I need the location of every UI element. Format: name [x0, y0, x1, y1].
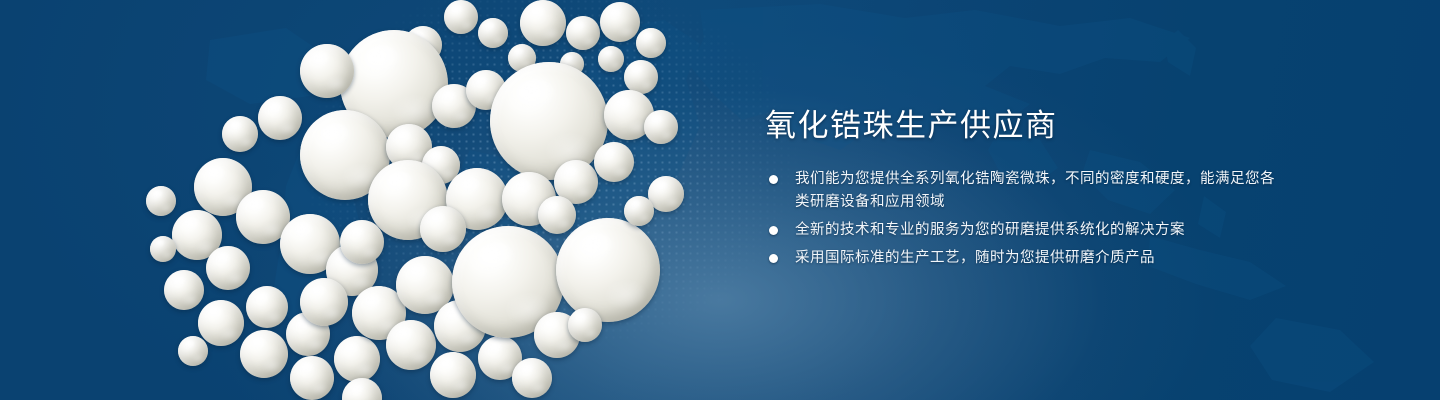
list-item: 我们能为您提供全系列氧化锆陶瓷微珠，不同的密度和硬度，能满足您各类研磨设备和应用…: [765, 168, 1285, 214]
filled-circle-bullet-icon: [769, 254, 778, 263]
list-item-label: 采用国际标准的生产工艺，随时为您提供研磨介质产品: [795, 250, 1155, 266]
list-item: 全新的技术和专业的服务为您的研磨提供系统化的解决方案: [765, 219, 1285, 242]
banner-copy: 氧化锆珠生产供应商 我们能为您提供全系列氧化锆陶瓷微珠，不同的密度和硬度，能满足…: [765, 106, 1285, 275]
list-item-label: 全新的技术和专业的服务为您的研磨提供系统化的解决方案: [795, 222, 1185, 238]
list-item-label: 我们能为您提供全系列氧化锆陶瓷微珠，不同的密度和硬度，能满足您各类研磨设备和应用…: [795, 171, 1275, 210]
filled-circle-bullet-icon: [769, 226, 778, 235]
page-title: 氧化锆珠生产供应商: [765, 106, 1285, 146]
zirconia-bead-cluster: [0, 0, 780, 400]
filled-circle-bullet-icon: [769, 175, 778, 184]
list-item: 采用国际标准的生产工艺，随时为您提供研磨介质产品: [765, 247, 1285, 270]
hero-banner: 氧化锆珠生产供应商 我们能为您提供全系列氧化锆陶瓷微珠，不同的密度和硬度，能满足…: [0, 0, 1440, 400]
feature-list: 我们能为您提供全系列氧化锆陶瓷微珠，不同的密度和硬度，能满足您各类研磨设备和应用…: [765, 168, 1285, 270]
